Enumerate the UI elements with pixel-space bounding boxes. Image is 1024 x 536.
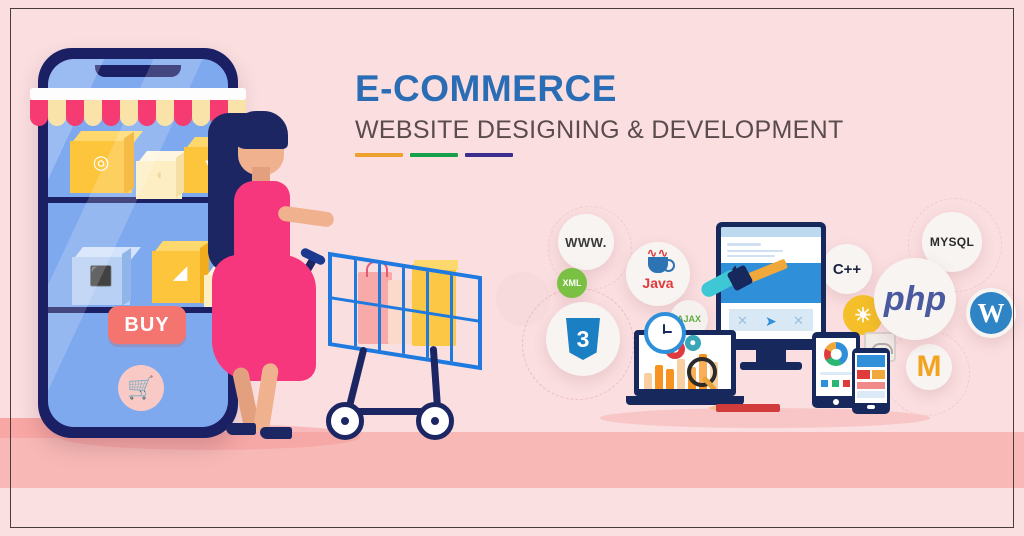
ground-base (0, 488, 1024, 536)
hair-top (232, 111, 288, 149)
wordpress-logo: W (970, 292, 1012, 334)
page-title: E-COMMERCE (355, 70, 844, 109)
magento-badge[interactable]: M (906, 344, 952, 390)
java-cup-icon (648, 257, 668, 273)
php-badge[interactable]: php (874, 258, 956, 340)
shoe-back (226, 423, 256, 435)
shopping-cart-icon[interactable]: 🛒 (118, 365, 164, 411)
laptop-analytics (626, 330, 744, 412)
www-badge[interactable]: WWW. (558, 214, 614, 270)
java-logo: ∿∿ (648, 257, 668, 273)
purple-accent-bar (465, 153, 513, 157)
awning-valance (30, 88, 246, 100)
cart-wheel-left (326, 402, 364, 440)
accent-bar-group (355, 153, 844, 157)
donut-chart (824, 342, 848, 366)
tablet-screen (816, 338, 856, 396)
xml-label: XML (563, 278, 582, 288)
monitor-base (740, 362, 802, 370)
shopping-cart (300, 250, 480, 440)
skirt (212, 255, 316, 381)
gear-icon (685, 335, 701, 351)
chart-bar (644, 373, 652, 389)
cplusplus-badge[interactable]: C++ (822, 244, 872, 294)
cplusplus-label: C++ (833, 261, 861, 278)
pencil-icon (716, 404, 780, 412)
mysql-label: MYSQL (930, 235, 974, 249)
php-label: php (884, 280, 946, 319)
chart-bar (655, 365, 663, 389)
mobile-screen (855, 353, 887, 403)
magnifier-icon (687, 357, 717, 387)
woman-pushing-cart (190, 105, 320, 445)
www-label: WWW. (565, 235, 607, 250)
page-subtitle: WEBSITE DESIGNING & DEVELOPMENT (355, 117, 844, 143)
css3-logo: CSS 3 (566, 318, 600, 360)
java-badge[interactable]: ∿∿ Java (626, 242, 690, 306)
shoe-front (260, 427, 292, 439)
xml-badge[interactable]: XML (557, 268, 587, 298)
ecommerce-banner: E-COMMERCE WEBSITE DESIGNING & DEVELOPME… (0, 0, 1024, 536)
headline-group: E-COMMERCE WEBSITE DESIGNING & DEVELOPME… (355, 70, 844, 157)
buy-button[interactable]: BUY (108, 306, 186, 344)
cart-wheel-right (416, 402, 454, 440)
chart-bar (666, 369, 674, 389)
cart-basket (328, 252, 482, 370)
stopwatch-icon (644, 312, 686, 354)
mobile-phone-ui (852, 348, 890, 414)
orange-accent-bar (355, 153, 403, 157)
lightbulb-label: ☀ (854, 303, 872, 328)
green-accent-bar (410, 153, 458, 157)
wordpress-label: W (978, 298, 1005, 329)
css-label: CSS (570, 305, 596, 317)
wordpress-badge[interactable]: W (966, 288, 1016, 338)
magento-label: M (917, 350, 942, 384)
chart-bar (677, 359, 685, 389)
java-label: Java (642, 275, 673, 291)
magento-logo: M (912, 348, 946, 386)
css3-badge[interactable]: CSS 3 (546, 302, 620, 376)
